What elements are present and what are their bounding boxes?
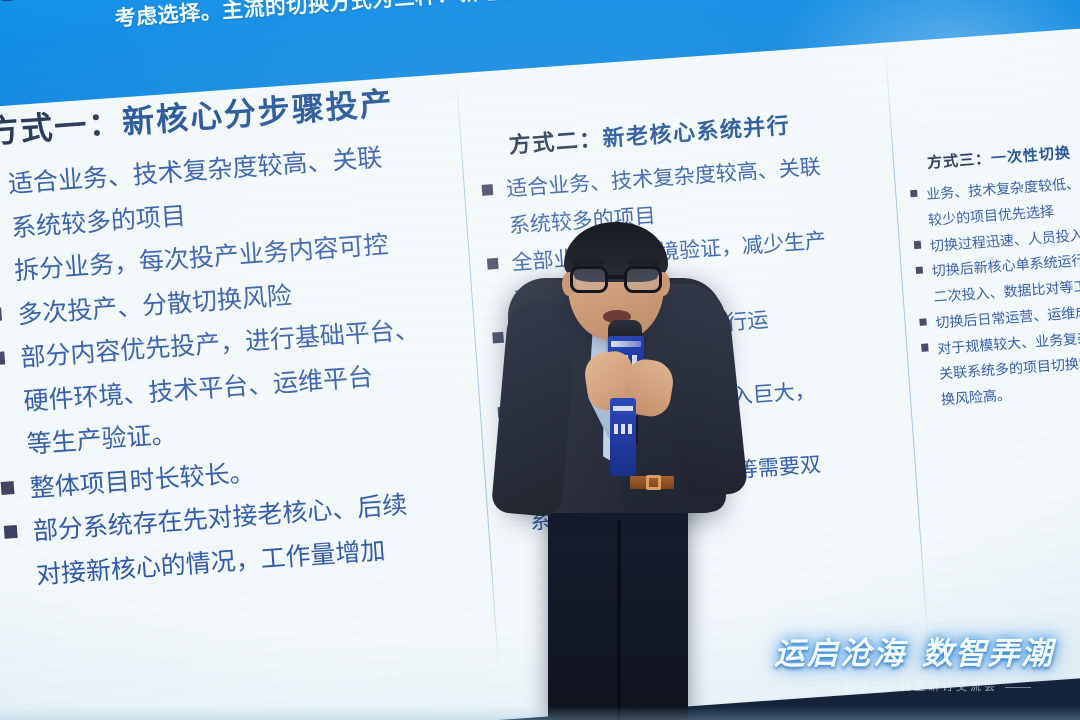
slide-surface: 沧州银行 BANK OF CANGZHOU 信创环境的切换方式 切换方式的选择通… — [0, 0, 1080, 720]
column-method-two: 方式二：新老核心系统并行 适合业务、技术复杂度较高、关联 系统较多的项目 全部业… — [474, 100, 923, 547]
slogan-part-two: 数智弄潮 — [922, 636, 1054, 671]
bank-logo-mark-icon — [0, 0, 27, 5]
stage-floor-edge — [0, 706, 1080, 720]
presentation-photo-stage: 沧州银行 BANK OF CANGZHOU 信创环境的切换方式 切换方式的选择通… — [0, 0, 1080, 720]
slide-intro-paragraph: 切换方式的选择通常会根据实施银行的规模、业务复杂度、技术复杂度、关联系统数量、切… — [111, 0, 1080, 35]
column-three-subtitle: 一次性切换 — [990, 145, 1071, 168]
column-three-number: 方式三： — [927, 150, 992, 172]
column-three-bullets: 业务、技术复杂度较低、关联系统 较少的项目优先选择 切换过程迅速、人员投入少 切… — [907, 167, 1080, 413]
event-subtitle-text: 金融数字化转型研讨交流会 — [830, 681, 998, 693]
column-two-number: 方式二： — [508, 126, 604, 158]
slogan-part-one: 运启沧海 — [774, 636, 906, 671]
column-method-three: 方式三：一次性切换 业务、技术复杂度较低、关联系统 较少的项目优先选择 切换过程… — [904, 136, 1080, 416]
column-two-bullets: 适合业务、技术复杂度较高、关联 系统较多的项目 全部业务生产环境验证，减少生产 … — [477, 146, 922, 542]
column-two-subtitle: 新老核心系统并行 — [602, 113, 791, 151]
column-one-number: 方式一： — [0, 104, 124, 150]
led-presentation-screen: 沧州银行 BANK OF CANGZHOU 信创环境的切换方式 切换方式的选择通… — [0, 0, 1080, 720]
column-method-one: 方式一：新核心分步骤投产 适合业务、技术复杂度较高、关联 系统较多的项目 拆分业… — [0, 73, 503, 602]
slide-columns: 方式一：新核心分步骤投产 适合业务、技术复杂度较高、关联 系统较多的项目 拆分业… — [0, 23, 1080, 720]
event-slogan-main: 运启沧海数智弄潮 — [764, 638, 1064, 669]
event-slogan-subtitle: 金融数字化转型研讨交流会 — [764, 678, 1064, 694]
column-three-heading: 方式三：一次性切换 — [904, 136, 1080, 175]
event-slogan-overlay: 运启沧海数智弄潮 金融数字化转型研讨交流会 — [764, 638, 1064, 694]
column-one-bullets: 适合业务、技术复杂度较高、关联 系统较多的项目 拆分业务，每次投产业务内容可控 … — [0, 132, 503, 596]
